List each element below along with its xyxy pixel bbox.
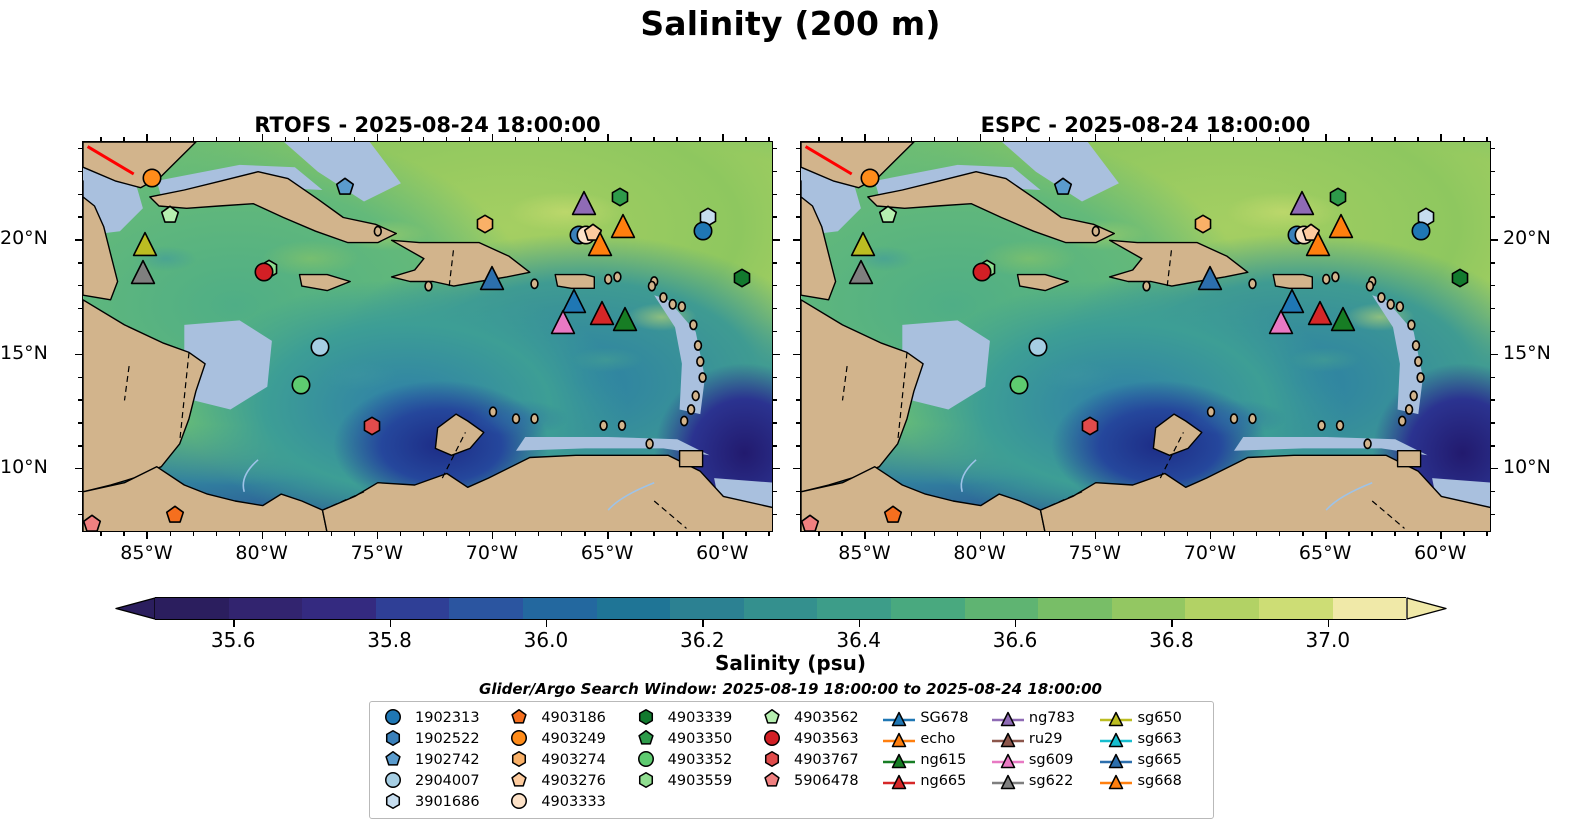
panel-title-rtofs: RTOFS - 2025-08-24 18:00:00 (82, 113, 773, 137)
legend-label: 4903249 (537, 731, 606, 747)
y-tick-minor (796, 216, 800, 217)
y-tick-minor (773, 194, 777, 195)
y-tick-minor (796, 491, 800, 492)
map-marker-sg622[interactable] (848, 259, 874, 285)
legend-marker-circle-icon (377, 772, 411, 790)
map-panel-espc[interactable] (800, 141, 1491, 532)
y-tick-minor (78, 377, 82, 378)
island-21 (425, 282, 432, 291)
legend-item-4903333[interactable]: 4903333 (503, 791, 629, 812)
x-tick-minor (1072, 137, 1073, 141)
y-tick-minor (1491, 399, 1495, 400)
legend-item-ru29[interactable]: ru29 (991, 728, 1100, 749)
land-hispaniola (392, 240, 530, 286)
river-0 (961, 460, 976, 492)
island-11 (1364, 439, 1371, 448)
legend-label: 1902742 (411, 752, 480, 768)
colorbar-ticklabel: 36.0 (524, 628, 569, 652)
map-marker-1902742[interactable] (335, 178, 354, 197)
y-tick-minor (78, 262, 82, 263)
map-marker-echo[interactable] (1328, 213, 1354, 239)
x-tick-minor (354, 532, 355, 536)
island-5 (1413, 341, 1420, 350)
legend-marker-triangle-icon (882, 751, 916, 769)
legend-item-ng665[interactable]: ng665 (882, 770, 991, 791)
y-tick-minor (78, 399, 82, 400)
y-tick-minor (78, 285, 82, 286)
x-tick-minor (676, 532, 677, 536)
map-marker-5906478[interactable] (83, 515, 102, 532)
legend-marker-circle-icon (756, 730, 790, 748)
island-6 (697, 357, 704, 366)
x-tick-major (980, 532, 981, 539)
colorbar-segment (965, 598, 1039, 619)
y-tick-minor (796, 148, 800, 149)
colorbar-segment (376, 598, 450, 619)
legend-marker-triangle-icon (882, 730, 916, 748)
x-tick-major (722, 134, 723, 141)
legend-label: ru29 (1025, 731, 1063, 747)
river-0 (243, 460, 258, 492)
y-tick-minor (773, 262, 777, 263)
x-tick-minor (1233, 532, 1234, 536)
x-tick-minor (1279, 137, 1280, 141)
island-14 (531, 414, 538, 423)
island-10 (681, 416, 688, 425)
x-axis-label: 60°W (1395, 542, 1485, 564)
x-tick-major (377, 532, 378, 539)
y-tick-major (793, 468, 800, 469)
legend-item-4903350[interactable]: 4903350 (630, 728, 756, 749)
island-2 (669, 300, 676, 309)
legend-label: 4903767 (790, 752, 859, 768)
legend-item-4903339[interactable]: 4903339 (630, 707, 756, 728)
island-1 (660, 293, 667, 302)
y-tick-minor (773, 331, 777, 332)
legend-item-4903249[interactable]: 4903249 (503, 728, 629, 749)
legend-label: 3901686 (411, 794, 480, 810)
island-17 (614, 272, 621, 281)
x-tick-major (607, 532, 608, 539)
x-tick-major (146, 532, 147, 539)
legend-label: sg622 (1025, 773, 1073, 789)
x-tick-minor (515, 532, 516, 536)
land-jamaica (300, 275, 351, 291)
x-tick-minor (308, 137, 309, 141)
legend-item-echo[interactable]: echo (882, 728, 991, 749)
island-3 (679, 302, 686, 311)
x-tick-minor (888, 137, 889, 141)
x-tick-minor (1233, 137, 1234, 141)
y-axis-label: 20°N (1503, 227, 1551, 249)
y-axis-label: 20°N (0, 227, 48, 249)
x-tick-minor (699, 137, 700, 141)
x-tick-major (980, 134, 981, 141)
x-tick-minor (957, 137, 958, 141)
legend-item-4903274[interactable]: 4903274 (503, 749, 629, 770)
y-tick-minor (796, 285, 800, 286)
legend-label: sg665 (1133, 752, 1181, 768)
x-tick-major (146, 134, 147, 141)
x-tick-minor (1302, 532, 1303, 536)
legend-label: 4903352 (664, 752, 733, 768)
island-18 (605, 275, 612, 284)
x-axis-label: 70°W (1165, 542, 1255, 564)
x-tick-minor (100, 532, 101, 536)
legend-marker-hexagon-icon (377, 730, 411, 748)
x-tick-minor (1003, 137, 1004, 141)
island-15 (1231, 414, 1238, 423)
x-tick-minor (100, 137, 101, 141)
map-marker-4903562[interactable] (879, 205, 898, 224)
y-tick-minor (1491, 422, 1495, 423)
x-axis-label: 70°W (447, 542, 537, 564)
map-marker-5906478[interactable] (801, 515, 820, 532)
y-tick-minor (773, 377, 777, 378)
panel-title-espc: ESPC - 2025-08-24 18:00:00 (800, 113, 1491, 137)
y-tick-minor (796, 377, 800, 378)
legend-label: 4903333 (537, 794, 606, 810)
x-tick-minor (423, 137, 424, 141)
y-tick-major (75, 468, 82, 469)
x-tick-minor (1417, 137, 1418, 141)
map-marker-echo[interactable] (610, 213, 636, 239)
x-tick-minor (538, 532, 539, 536)
legend-column: 4903562490356349037675906478 (756, 707, 882, 812)
map-marker-ng615[interactable] (1330, 306, 1356, 332)
x-tick-minor (841, 532, 842, 536)
x-tick-minor (630, 532, 631, 536)
map-marker-1902742[interactable] (1053, 178, 1072, 197)
legend-item-sg663[interactable]: sg663 (1099, 728, 1206, 749)
x-tick-minor (400, 532, 401, 536)
x-tick-minor (354, 137, 355, 141)
x-tick-minor (1164, 532, 1165, 536)
x-tick-minor (934, 137, 935, 141)
island-18 (1323, 275, 1330, 284)
x-tick-minor (331, 532, 332, 536)
x-tick-major (1095, 532, 1096, 539)
y-tick-major (1491, 468, 1498, 469)
legend-item-4903276[interactable]: 4903276 (503, 770, 629, 791)
map-marker-4903249[interactable] (142, 169, 161, 188)
colorbar-segment (523, 598, 597, 619)
legend-item-sg668[interactable]: sg668 (1099, 770, 1206, 791)
legend-item-4903767[interactable]: 4903767 (756, 749, 882, 770)
map-marker-1902313[interactable] (694, 221, 713, 240)
x-tick-minor (1463, 137, 1464, 141)
x-tick-minor (1026, 137, 1027, 141)
x-tick-minor (1026, 532, 1027, 536)
y-tick-minor (78, 422, 82, 423)
colorbar-tick (1171, 620, 1172, 627)
x-tick-major (864, 134, 865, 141)
x-tick-minor (1371, 532, 1372, 536)
legend-column: 49031864903249490327449032764903333 (503, 707, 629, 812)
colorbar-segment (1259, 598, 1333, 619)
map-marker-2904007[interactable] (1028, 337, 1047, 356)
x-tick-minor (1302, 137, 1303, 141)
legend-item-1902313[interactable]: 1902313 (377, 707, 503, 728)
island-21 (1143, 282, 1150, 291)
map-marker-4903563[interactable] (973, 262, 992, 281)
map-marker-4903352[interactable] (1010, 376, 1029, 395)
y-tick-minor (78, 514, 82, 515)
y-tick-minor (773, 491, 777, 492)
legend-item-4903562[interactable]: 4903562 (756, 707, 882, 728)
x-tick-major (864, 532, 865, 539)
legend-marker-pentagon-icon (756, 709, 790, 727)
x-tick-minor (1279, 532, 1280, 536)
legend-item-4903559[interactable]: 4903559 (630, 770, 756, 791)
island-4 (690, 320, 697, 329)
x-tick-major (722, 532, 723, 539)
land-colombia-venezuela (1041, 455, 1492, 532)
island-10 (1399, 416, 1406, 425)
y-tick-major (773, 468, 780, 469)
map-marker-sg650[interactable] (850, 231, 876, 257)
x-tick-minor (1187, 137, 1188, 141)
x-tick-minor (170, 137, 171, 141)
colorbar-segment (1185, 598, 1259, 619)
x-tick-major (607, 134, 608, 141)
legend-label: 4903350 (664, 731, 733, 747)
x-tick-minor (331, 137, 332, 141)
island-4 (1408, 320, 1415, 329)
island-8 (692, 391, 699, 400)
legend-item-sg609[interactable]: sg609 (991, 749, 1100, 770)
map-marker-4903186[interactable] (883, 506, 902, 525)
legend-item-sg650[interactable]: sg650 (1099, 707, 1206, 728)
colorbar-tick (390, 620, 391, 627)
legend-label: 4903186 (537, 710, 606, 726)
x-tick-minor (170, 532, 171, 536)
x-axis-label: 80°W (935, 542, 1025, 564)
y-tick-minor (78, 194, 82, 195)
x-axis-label: 65°W (1280, 542, 1370, 564)
y-tick-minor (773, 399, 777, 400)
land-hispaniola (1110, 240, 1248, 286)
x-tick-minor (1256, 532, 1257, 536)
legend-item-sg665[interactable]: sg665 (1099, 749, 1206, 770)
legend-item-4903563[interactable]: 4903563 (756, 728, 882, 749)
colorbar-segment (155, 598, 229, 619)
legend-marker-triangle-icon (991, 751, 1025, 769)
y-tick-minor (796, 308, 800, 309)
y-axis-label: 10°N (1503, 456, 1551, 478)
map-marker-4903563[interactable] (255, 262, 274, 281)
x-tick-minor (1187, 532, 1188, 536)
legend-column: 19023131902522190274229040073901686 (377, 707, 503, 812)
map-marker-sg650[interactable] (132, 231, 158, 257)
map-marker-4903249[interactable] (860, 169, 879, 188)
x-axis-label: 75°W (332, 542, 422, 564)
legend-column: 4903339490335049033524903559 (630, 707, 756, 812)
legend-label: ng783 (1025, 710, 1075, 726)
x-tick-minor (1486, 137, 1487, 141)
legend-item-3901686[interactable]: 3901686 (377, 791, 503, 812)
legend-box[interactable]: 1902313190252219027422904007390168649031… (369, 701, 1214, 819)
x-tick-minor (653, 532, 654, 536)
island-16 (1208, 407, 1215, 416)
x-tick-minor (699, 532, 700, 536)
x-tick-minor (1141, 532, 1142, 536)
map-marker-1902313[interactable] (1412, 221, 1431, 240)
legend-label: 4903559 (664, 773, 733, 789)
colorbar-extend-max (1406, 597, 1447, 620)
map-marker-4903274[interactable] (1193, 214, 1212, 233)
map-marker-sg665[interactable] (1197, 265, 1223, 291)
legend-item-1902742[interactable]: 1902742 (377, 749, 503, 770)
legend-item-5906478[interactable]: 5906478 (756, 770, 882, 791)
y-tick-minor (78, 148, 82, 149)
x-axis-label: 80°W (217, 542, 307, 564)
y-tick-minor (773, 422, 777, 423)
map-marker-sg665[interactable] (479, 265, 505, 291)
legend-label: 5906478 (790, 773, 859, 789)
legend-label: sg663 (1133, 731, 1181, 747)
x-tick-minor (469, 137, 470, 141)
legend-marker-triangle-icon (1099, 751, 1133, 769)
legend-item-4903186[interactable]: 4903186 (503, 707, 629, 728)
colorbar-tick (1015, 620, 1016, 627)
y-tick-minor (1491, 216, 1495, 217)
legend-marker-triangle-icon (991, 709, 1025, 727)
legend-label: ng665 (916, 773, 966, 789)
x-tick-minor (911, 532, 912, 536)
x-tick-minor (1003, 532, 1004, 536)
legend-item-ng783[interactable]: ng783 (991, 707, 1100, 728)
x-tick-minor (1371, 137, 1372, 141)
colorbar-extend-min (115, 597, 156, 620)
colorbar-ticklabel: 36.6 (993, 628, 1038, 652)
x-tick-minor (818, 532, 819, 536)
x-tick-minor (584, 532, 585, 536)
legend-item-4903352[interactable]: 4903352 (630, 749, 756, 770)
colorbar-segment (229, 598, 303, 619)
y-tick-minor (773, 445, 777, 446)
island-2 (1387, 300, 1394, 309)
x-tick-minor (653, 137, 654, 141)
y-tick-minor (796, 445, 800, 446)
x-tick-minor (1049, 532, 1050, 536)
map-marker-4903350[interactable] (611, 187, 630, 206)
colorbar-segment (670, 598, 744, 619)
y-tick-minor (1491, 194, 1495, 195)
map-marker-sg609[interactable] (550, 309, 576, 335)
legend-marker-triangle-icon (991, 772, 1025, 790)
map-marker-4903186[interactable] (165, 506, 184, 525)
x-tick-minor (1256, 137, 1257, 141)
island-12 (1337, 421, 1344, 430)
legend-marker-hexagon-icon (377, 793, 411, 811)
x-tick-major (377, 134, 378, 141)
y-tick-minor (1491, 308, 1495, 309)
x-tick-minor (216, 532, 217, 536)
colorbar-segment (891, 598, 965, 619)
y-tick-minor (78, 308, 82, 309)
x-tick-minor (584, 137, 585, 141)
island-7 (1417, 373, 1424, 382)
x-tick-minor (1072, 532, 1073, 536)
island-20 (1249, 279, 1256, 288)
land-guajira (435, 414, 483, 455)
map-marker-sg622[interactable] (130, 259, 156, 285)
land-colombia-venezuela (323, 455, 774, 532)
map-marker-4903562[interactable] (161, 205, 180, 224)
colorbar-gradient (155, 597, 1406, 620)
colorbar-segment (597, 598, 671, 619)
legend-item-sg622[interactable]: sg622 (991, 770, 1100, 791)
legend-label: 4903339 (664, 710, 733, 726)
island-8 (1410, 391, 1417, 400)
x-tick-minor (561, 532, 562, 536)
colorbar-tick (859, 620, 860, 627)
island-1 (1378, 293, 1385, 302)
map-marker-ng783[interactable] (1289, 190, 1315, 216)
legend-item-ng615[interactable]: ng615 (882, 749, 991, 770)
map-marker-4903274[interactable] (475, 214, 494, 233)
y-tick-minor (78, 171, 82, 172)
map-marker-4903339[interactable] (733, 269, 752, 288)
x-axis-label: 85°W (101, 542, 191, 564)
legend-marker-circle-icon (377, 709, 411, 727)
x-tick-minor (745, 532, 746, 536)
land-puerto-rico (555, 275, 594, 289)
y-tick-minor (796, 331, 800, 332)
legend-marker-circle-icon (630, 751, 664, 769)
map-marker-2904007[interactable] (310, 337, 329, 356)
legend-marker-hexagon-icon (503, 751, 537, 769)
x-tick-minor (818, 137, 819, 141)
map-marker-ng615[interactable] (612, 306, 638, 332)
x-tick-minor (768, 137, 769, 141)
island-22 (1092, 227, 1099, 236)
legend-item-SG678[interactable]: SG678 (882, 707, 991, 728)
land-guajira (1153, 414, 1201, 455)
x-tick-minor (630, 137, 631, 141)
y-tick-minor (773, 148, 777, 149)
legend-item-2904007[interactable]: 2904007 (377, 770, 503, 791)
x-tick-minor (1141, 137, 1142, 141)
x-tick-minor (745, 137, 746, 141)
x-tick-major (262, 134, 263, 141)
land-jamaica (1018, 275, 1069, 291)
map-marker-4903767[interactable] (1081, 417, 1100, 436)
map-marker-sg609[interactable] (1268, 309, 1294, 335)
y-tick-major (793, 239, 800, 240)
map-panel-rtofs[interactable] (82, 141, 773, 532)
x-tick-major (262, 532, 263, 539)
figure-suptitle: Salinity (200 m) (0, 4, 1581, 43)
colorbar-ticklabel: 36.2 (680, 628, 725, 652)
y-tick-minor (1491, 514, 1495, 515)
map-marker-4903339[interactable] (1451, 269, 1470, 288)
x-axis-label: 85°W (819, 542, 909, 564)
legend-item-1902522[interactable]: 1902522 (377, 728, 503, 749)
map-marker-ng783[interactable] (571, 190, 597, 216)
map-marker-4903350[interactable] (1329, 187, 1348, 206)
map-marker-4903352[interactable] (292, 376, 311, 395)
figure-root: Salinity (200 m) RTOFS - 2025-08-24 18:0… (0, 0, 1581, 829)
map-marker-4903767[interactable] (363, 417, 382, 436)
x-tick-minor (469, 532, 470, 536)
x-tick-minor (400, 137, 401, 141)
colorbar-ticks (155, 620, 1406, 628)
y-tick-minor (773, 514, 777, 515)
legend-label: echo (916, 731, 955, 747)
land-trinidad (1398, 451, 1421, 467)
